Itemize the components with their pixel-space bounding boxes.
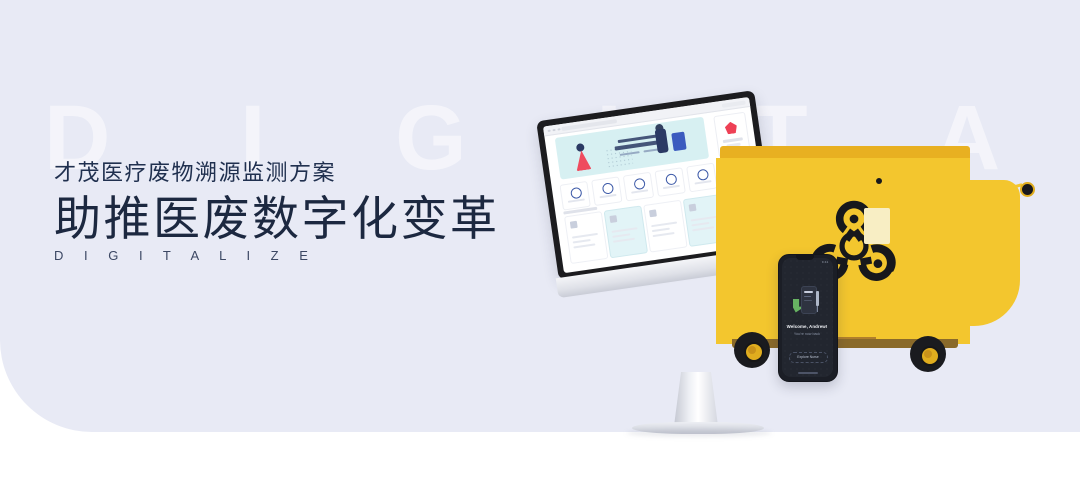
- monitor-stand-neck: [674, 372, 718, 426]
- wheel-bolt: [748, 346, 756, 354]
- person-body-icon: [671, 132, 686, 152]
- phone-illustration-art: [796, 286, 820, 318]
- browser-address-bar: [561, 119, 617, 131]
- person-body-icon: [574, 149, 592, 171]
- bin-wheel: [910, 336, 946, 372]
- medical-waste-bin-illustration: [716, 146, 1080, 378]
- quick-action-icon[interactable]: [559, 181, 590, 211]
- dashboard-card[interactable]: [643, 200, 687, 253]
- phone-status-time: 9:41: [822, 260, 829, 264]
- phone-welcome-subtitle: You're now back: [782, 332, 833, 336]
- dashboard-card[interactable]: [604, 205, 648, 258]
- phone-screen: 9:41 Welcome, Andrew! You're now back Ex…: [782, 258, 833, 377]
- bin-hinge-knob: [876, 178, 882, 184]
- dashboard-card[interactable]: [564, 211, 608, 264]
- syringe-icon: [816, 291, 819, 306]
- phone-notch: [796, 255, 814, 260]
- wheel-bolt: [924, 350, 932, 358]
- browser-dot-icon: [547, 129, 550, 132]
- monitor-shadow: [626, 429, 772, 437]
- person-head-icon: [576, 143, 585, 152]
- phone-welcome-title: Welcome, Andrew!: [782, 324, 833, 329]
- browser-dot-icon: [552, 128, 555, 131]
- quick-action-icon[interactable]: [654, 167, 685, 197]
- page-title: 助推医废数字化变革: [54, 193, 500, 246]
- hero-banner: D I G I T A L I Z E 才茂医疗废物溯源监测方案 助推医废数字化…: [0, 0, 1080, 480]
- subline-text: D I G I T A L I Z E: [54, 248, 500, 263]
- device-icon: [801, 286, 817, 314]
- lever-knob-icon: [1020, 182, 1035, 197]
- bin-lever-handle[interactable]: [984, 185, 1026, 199]
- lever-arm: [984, 183, 1023, 197]
- quick-action-icon[interactable]: [623, 172, 654, 202]
- smartphone-illustration: 9:41 Welcome, Andrew! You're now back Ex…: [778, 254, 838, 382]
- bin-wheel: [734, 332, 770, 368]
- device-line: [804, 300, 812, 302]
- eyebrow-text: 才茂医疗废物溯源监测方案: [54, 160, 500, 186]
- device-line: [804, 296, 811, 298]
- browser-actions: [721, 100, 745, 107]
- phone-cta-button[interactable]: Explore Nurse: [789, 352, 828, 363]
- syringe-needle-icon: [817, 306, 818, 312]
- quick-action-icon[interactable]: [686, 163, 717, 193]
- person-body-icon: [655, 128, 669, 153]
- bin-label-panel: [864, 208, 890, 244]
- headline-block: 才茂医疗废物溯源监测方案 助推医废数字化变革 D I G I T A L I Z…: [54, 160, 500, 263]
- phone-home-indicator: [798, 372, 818, 374]
- device-line: [804, 291, 813, 293]
- shield-icon: [724, 121, 738, 135]
- browser-dot-icon: [557, 128, 560, 131]
- quick-action-icon[interactable]: [591, 176, 622, 206]
